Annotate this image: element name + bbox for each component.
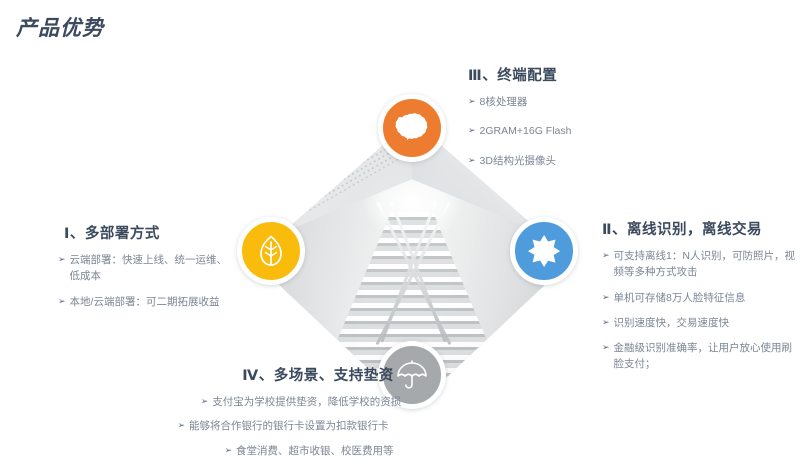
bullet-text: 云端部署：快速上线、统一运维、低成本 <box>70 252 228 285</box>
leaf-icon <box>257 234 285 268</box>
bullet-arrow-icon: ➢ <box>58 294 66 309</box>
list-item: ➢ 云端部署：快速上线、统一运维、低成本 <box>58 252 228 285</box>
bullet-arrow-icon: ➢ <box>58 252 66 267</box>
bullet-arrow-icon: ➢ <box>224 443 232 458</box>
bullet-arrow-icon: ➢ <box>468 123 476 138</box>
node-terminal-config[interactable] <box>378 94 446 162</box>
bullet-arrow-icon: ➢ <box>602 315 610 330</box>
page-title: 产品优势 <box>16 12 104 42</box>
section-three-heading: Ⅲ、终端配置 <box>468 64 668 85</box>
bullet-text: 识别速度快，交易速度快 <box>614 315 802 331</box>
bullet-text: 本地/云端部署：可二期拓展收益 <box>70 294 228 310</box>
list-item: ➢ 3D结构光摄像头 <box>468 153 668 169</box>
bullet-arrow-icon: ➢ <box>177 418 185 433</box>
bullet-text: 2GRAM+16G Flash <box>480 123 668 139</box>
section-two-bullets: ➢ 可支持离线1：N人识别，可防照片，视频等多种方式攻击 ➢ 单机可存储8万人脸… <box>602 248 802 373</box>
bullet-text: 8核处理器 <box>480 94 668 110</box>
section-one-heading: Ⅰ、多部署方式 <box>58 222 228 243</box>
section-offline-recognition: Ⅱ、离线识别，离线交易 ➢ 可支持离线1：N人识别，可防照片，视频等多种方式攻击… <box>602 218 802 382</box>
list-item: ➢ 可支持离线1：N人识别，可防照片，视频等多种方式攻击 <box>602 248 802 281</box>
bullet-text: 金融级识别准确率，让用户放心使用刷脸支付； <box>614 340 802 373</box>
list-item: ➢ 能够将合作银行的银行卡设置为扣款银行卡 <box>128 418 438 434</box>
section-deployment: Ⅰ、多部署方式 ➢ 云端部署：快速上线、统一运维、低成本 ➢ 本地/云端部署：可… <box>58 222 228 319</box>
section-multi-scenario: Ⅳ、多场景、支持垫资 ➢ 支付宝为学校提供垫资，降低学校的资损 ➢ 能够将合作银… <box>128 364 438 467</box>
list-item: ➢ 单机可存储8万人脸特征信息 <box>602 290 802 306</box>
bullet-text: 能够将合作银行的银行卡设置为扣款银行卡 <box>189 418 389 434</box>
section-four-heading: Ⅳ、多场景、支持垫资 <box>128 364 438 385</box>
bullet-arrow-icon: ➢ <box>468 153 476 168</box>
bullet-arrow-icon: ➢ <box>602 248 610 263</box>
section-terminal-config: Ⅲ、终端配置 ➢ 8核处理器 ➢ 2GRAM+16G Flash ➢ 3D结构光… <box>468 64 668 182</box>
slide-canvas: 产品优势 <box>0 0 808 476</box>
bullet-arrow-icon: ➢ <box>602 290 610 305</box>
list-item: ➢ 食堂消费、超市收银、校医费用等 <box>128 443 438 459</box>
bullet-text: 支付宝为学校提供垫资，降低学校的资损 <box>212 394 401 410</box>
list-item: ➢ 2GRAM+16G Flash <box>468 123 668 139</box>
bullet-text: 可支持离线1：N人识别，可防照片，视频等多种方式攻击 <box>614 248 802 281</box>
list-item: ➢ 支付宝为学校提供垫资，降低学校的资损 <box>128 394 438 410</box>
list-item: ➢ 识别速度快，交易速度快 <box>602 315 802 331</box>
bullet-arrow-icon: ➢ <box>201 394 209 409</box>
section-three-bullets: ➢ 8核处理器 ➢ 2GRAM+16G Flash ➢ 3D结构光摄像头 <box>468 94 668 169</box>
list-item: ➢ 8核处理器 <box>468 94 668 110</box>
bullet-text: 食堂消费、超市收银、校医费用等 <box>236 443 394 459</box>
star-burst-icon <box>528 235 560 267</box>
bullet-text: 单机可存储8万人脸特征信息 <box>614 290 802 306</box>
section-one-bullets: ➢ 云端部署：快速上线、统一运维、低成本 ➢ 本地/云端部署：可二期拓展收益 <box>58 252 228 310</box>
node-deployment[interactable] <box>237 217 305 285</box>
bullet-arrow-icon: ➢ <box>468 94 476 109</box>
speech-bubble-icon <box>395 113 429 143</box>
list-item: ➢ 金融级识别准确率，让用户放心使用刷脸支付； <box>602 340 802 373</box>
list-item: ➢ 本地/云端部署：可二期拓展收益 <box>58 294 228 310</box>
section-two-heading: Ⅱ、离线识别，离线交易 <box>602 218 802 239</box>
bullet-arrow-icon: ➢ <box>602 340 610 355</box>
bullet-text: 3D结构光摄像头 <box>480 153 668 169</box>
section-four-bullets: ➢ 支付宝为学校提供垫资，降低学校的资损 ➢ 能够将合作银行的银行卡设置为扣款银… <box>128 394 438 459</box>
node-offline-recognition[interactable] <box>510 217 578 285</box>
